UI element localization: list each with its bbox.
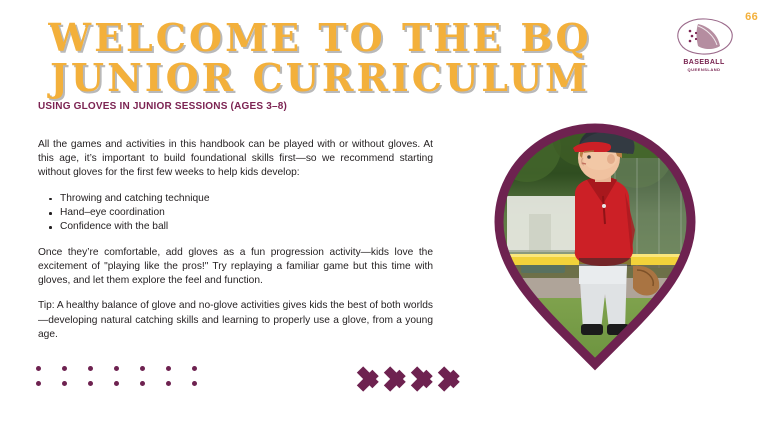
page-title: WELCOME TO THE BQ JUNIOR CURRICULUM: [0, 18, 640, 98]
body-paragraph-1: All the games and activities in this han…: [38, 138, 433, 181]
dot: [166, 381, 171, 386]
young-baseball-player-photo: [487, 118, 703, 406]
list-item: Throwing and catching technique: [60, 192, 433, 206]
pin-photo-frame: [487, 118, 703, 406]
dot: [114, 366, 119, 371]
chevron-decoration: [357, 357, 465, 401]
dot: [140, 366, 145, 371]
baseball-queensland-logo: BASEBALL QUEENSLAND: [668, 14, 740, 76]
chevron-left-icon: [411, 357, 438, 401]
chevron-left-icon: [384, 357, 411, 401]
dot: [36, 366, 41, 371]
list-item: Hand–eye coordination: [60, 206, 433, 220]
baseball-logo-icon: [668, 14, 740, 62]
page-number: 66: [745, 11, 758, 23]
dot-grid-decoration: [36, 366, 218, 396]
chevron-left-icon: [357, 357, 384, 401]
body-content: All the games and activities in this han…: [38, 138, 433, 342]
slide-canvas: 66 BASEBALL QUEENSLAND WELCOME TO THE BQ…: [0, 0, 768, 432]
dot: [140, 381, 145, 386]
page-title-line-2: JUNIOR CURRICULUM: [0, 58, 640, 98]
page-title-line-1: WELCOME TO THE BQ: [0, 18, 640, 58]
dot: [88, 366, 93, 371]
dot: [192, 381, 197, 386]
dot: [166, 366, 171, 371]
dot: [36, 381, 41, 386]
dot: [114, 381, 119, 386]
dot: [88, 381, 93, 386]
dot: [62, 366, 67, 371]
logo-label-secondary: QUEENSLAND: [668, 67, 740, 72]
logo-label-primary: BASEBALL: [668, 59, 740, 66]
section-subtitle: USING GLOVES IN JUNIOR SESSIONS (AGES 3–…: [38, 101, 287, 112]
list-item: Confidence with the ball: [60, 220, 433, 234]
skills-bullet-list: Throwing and catching technique Hand–eye…: [38, 192, 433, 235]
body-paragraph-2: Once they’re comfortable, add gloves as …: [38, 246, 433, 289]
dot: [62, 381, 67, 386]
dot: [192, 366, 197, 371]
chevron-left-icon: [438, 357, 465, 401]
body-paragraph-3: Tip: A healthy balance of glove and no-g…: [38, 299, 433, 342]
